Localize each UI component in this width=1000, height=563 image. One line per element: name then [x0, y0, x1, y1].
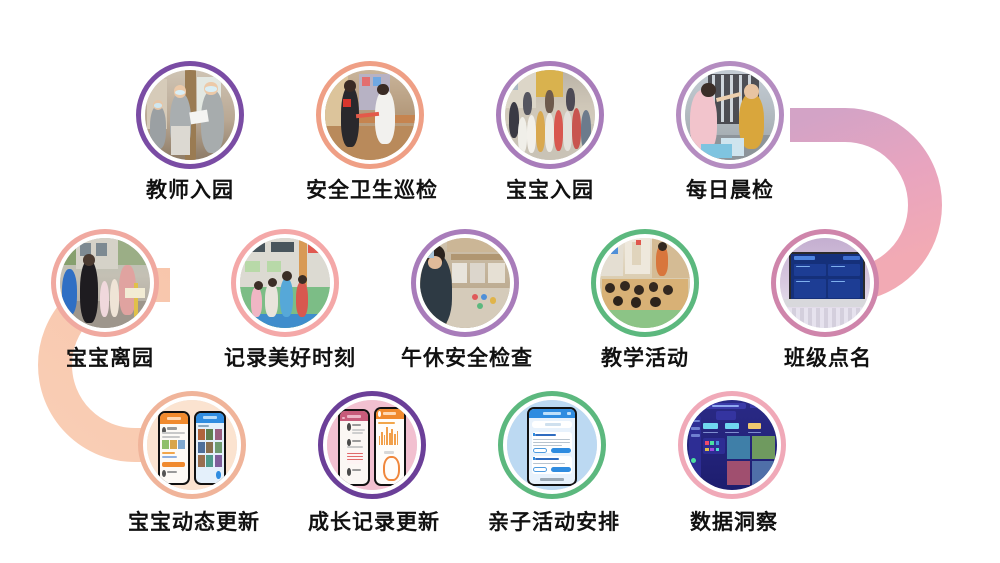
step-node-9[interactable] — [771, 229, 879, 337]
step-node-2[interactable] — [316, 61, 424, 169]
phone-activity-feed — [147, 400, 237, 490]
step-label-1: 教师入园 — [146, 180, 234, 201]
photo-safety-inspection — [325, 70, 415, 160]
phone-center — [527, 407, 577, 486]
step-node-13[interactable] — [678, 391, 786, 499]
step-node-8[interactable] — [591, 229, 699, 337]
step-label-13: 数据洞察 — [690, 512, 778, 533]
phone-left — [338, 409, 370, 486]
step-label-7: 午休安全检查 — [401, 348, 533, 369]
photo-teaching-activity — [600, 238, 690, 328]
step-node-3[interactable] — [496, 61, 604, 169]
phone-growth-record — [327, 400, 417, 490]
step-node-1[interactable] — [136, 61, 244, 169]
step-node-11[interactable] — [318, 391, 426, 499]
phone-left — [158, 411, 190, 485]
dashboard-data-insight — [687, 400, 777, 490]
photo-happy-moments — [240, 238, 330, 328]
step-label-11: 成长记录更新 — [308, 512, 440, 533]
photo-teacher-entry — [145, 70, 235, 160]
infographic-canvas: 教师入园 安全卫生巡检 — [0, 0, 1000, 563]
step-label-4: 每日晨检 — [686, 180, 774, 201]
step-label-6: 记录美好时刻 — [224, 348, 356, 369]
step-label-8: 教学活动 — [601, 348, 689, 369]
phone-parent-child-activity — [507, 400, 597, 490]
step-node-7[interactable] — [411, 229, 519, 337]
step-node-6[interactable] — [231, 229, 339, 337]
step-label-12: 亲子活动安排 — [488, 512, 620, 533]
photo-child-pickup — [60, 238, 150, 328]
step-label-5: 宝宝离园 — [66, 348, 154, 369]
photo-morning-check — [685, 70, 775, 160]
step-label-10: 宝宝动态更新 — [128, 512, 260, 533]
photo-class-rollcall — [780, 238, 870, 328]
step-label-2: 安全卫生巡检 — [306, 180, 438, 201]
step-node-5[interactable] — [51, 229, 159, 337]
photo-child-arrival — [505, 70, 595, 160]
phone-right — [374, 407, 406, 486]
step-node-10[interactable] — [138, 391, 246, 499]
step-label-9: 班级点名 — [784, 348, 872, 369]
step-node-4[interactable] — [676, 61, 784, 169]
photo-naptime-check — [420, 238, 510, 328]
phone-right — [194, 411, 226, 485]
step-node-12[interactable] — [498, 391, 606, 499]
step-label-3: 宝宝入园 — [506, 180, 594, 201]
